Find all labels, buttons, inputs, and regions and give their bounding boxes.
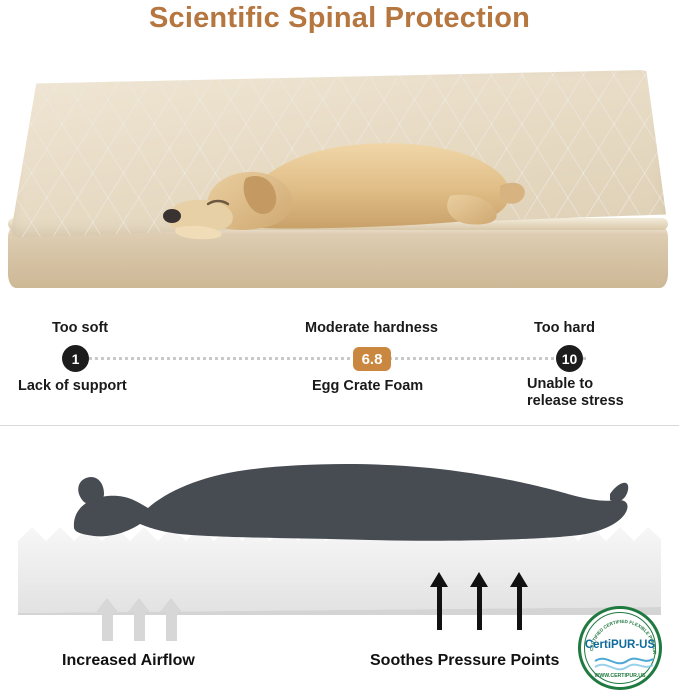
arrow-shaft — [102, 611, 113, 641]
scale-value-current: 6.8 — [353, 347, 391, 371]
scale-value-min: 1 — [62, 345, 89, 372]
arrow-shaft — [477, 586, 482, 630]
scale-label-too-hard: Too hard — [534, 320, 595, 336]
scale-sub-release-stress-line2: release stress — [527, 393, 624, 409]
arrow-shaft — [517, 586, 522, 630]
scale-sub-lack-of-support: Lack of support — [18, 378, 127, 395]
arrow-shaft — [134, 611, 145, 641]
hardness-scale: Too soft Moderate hardness Too hard 1 6.… — [0, 306, 679, 424]
caption-soothes-pressure-points: Soothes Pressure Points — [370, 652, 559, 670]
certipur-us-badge: CERTIFIED CERTIFIED FLEXIBLE POLYURETHAN… — [578, 606, 662, 690]
hero-product-photo — [0, 48, 679, 296]
scale-value-max: 10 — [556, 345, 583, 372]
arrow-up-icon — [96, 598, 118, 612]
arrow-up-icon — [160, 598, 182, 612]
scale-sub-release-stress-line1: Unable to — [527, 376, 593, 392]
arrow-up-icon — [430, 572, 448, 587]
arrow-up-icon — [470, 572, 488, 587]
scale-label-moderate: Moderate hardness — [305, 320, 438, 336]
badge-url: WWW.CERTIPUR.US — [581, 673, 659, 679]
scale-label-too-soft: Too soft — [52, 320, 108, 336]
scale-track — [76, 357, 586, 363]
foam-cross-section-diagram: Increased Airflow Soothes Pressure Point… — [0, 430, 679, 693]
badge-name: CertiPUR-US — [581, 639, 659, 651]
scale-top-labels: Too soft Moderate hardness Too hard — [0, 320, 679, 340]
page-title: Scientific Spinal Protection — [0, 2, 679, 35]
section-divider-2 — [0, 425, 679, 426]
arrow-up-icon — [128, 598, 150, 612]
arrow-shaft — [437, 586, 442, 630]
scale-sub-egg-crate-foam: Egg Crate Foam — [312, 378, 423, 395]
dog-photo-illustration — [150, 100, 530, 250]
arrow-up-icon — [510, 572, 528, 587]
scale-sub-release-stress: Unable to release stress — [527, 376, 624, 410]
product-infographic: Scientific Spinal Protection — [0, 0, 679, 693]
caption-increased-airflow: Increased Airflow — [62, 652, 195, 670]
dog-silhouette — [70, 442, 630, 552]
arrow-shaft — [166, 611, 177, 641]
